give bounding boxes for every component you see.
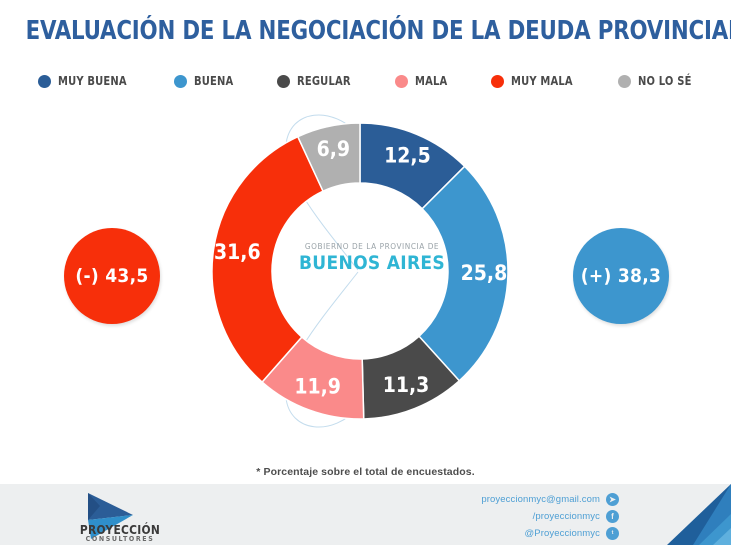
positive-total-bubble: (+) 38,3 <box>573 228 669 324</box>
legend-label: NO LO SÉ <box>638 74 692 88</box>
legend-item-muy-buena[interactable]: MUY BUENA <box>38 74 134 88</box>
legend-item-regular[interactable]: REGULAR <box>277 74 357 88</box>
negative-total-bubble: (-) 43,5 <box>64 228 160 324</box>
twitter-icon[interactable]: ᵗ <box>606 527 619 540</box>
footer-contacts: proyeccionmyc@gmail.com ➤ /proyeccionmyc… <box>481 493 619 540</box>
legend-dot-icon <box>174 75 187 88</box>
legend-dot-icon <box>395 75 408 88</box>
donut-chart-svg: 12,525,811,311,931,66,9 <box>182 96 542 446</box>
chart-footnote: * Porcentaje sobre el total de encuestad… <box>0 466 731 478</box>
chart-legend: MUY BUENA BUENA REGULAR MALA MUY MALA NO… <box>38 70 698 92</box>
legend-label: BUENA <box>194 74 233 88</box>
legend-label: MUY BUENA <box>58 74 127 88</box>
legend-label: MALA <box>415 74 447 88</box>
contact-row-facebook[interactable]: /proyeccionmyc f <box>533 510 619 523</box>
legend-dot-icon <box>277 75 290 88</box>
legend-label: REGULAR <box>297 74 351 88</box>
legend-item-buena[interactable]: BUENA <box>174 74 238 88</box>
page-footer: PROYECCIÓN CONSULTORES proyeccionmyc@gma… <box>0 484 731 545</box>
donut-slice-label: 12,5 <box>384 143 431 167</box>
legend-dot-icon <box>491 75 504 88</box>
facebook-icon[interactable]: f <box>606 510 619 523</box>
donut-slice-label: 11,3 <box>383 373 430 397</box>
legend-item-no-lo-se[interactable]: NO LO SÉ <box>618 74 698 88</box>
contact-row-email[interactable]: proyeccionmyc@gmail.com ➤ <box>481 493 619 506</box>
donut-chart: 12,525,811,311,931,66,9 GOBIERNO DE LA P… <box>182 96 542 446</box>
legend-item-mala[interactable]: MALA <box>395 74 451 88</box>
contact-facebook-text: /proyeccionmyc <box>533 511 600 522</box>
contact-email-text: proyeccionmyc@gmail.com <box>481 494 600 505</box>
legend-item-muy-mala[interactable]: MUY MALA <box>491 74 580 88</box>
send-icon[interactable]: ➤ <box>606 493 619 506</box>
donut-slice-label: 6,9 <box>317 137 350 161</box>
infographic-canvas: EVALUACIÓN DE LA NEGOCIACIÓN DE LA DEUDA… <box>0 0 731 545</box>
footer-corner-decoration <box>621 484 731 545</box>
legend-dot-icon <box>618 75 631 88</box>
brand-subtitle: CONSULTORES <box>55 535 185 543</box>
donut-slice-label: 11,9 <box>294 375 341 399</box>
contact-row-twitter[interactable]: @Proyeccionmyc ᵗ <box>525 527 619 540</box>
legend-label: MUY MALA <box>511 74 573 88</box>
donut-slice-label: 31,6 <box>214 240 261 264</box>
donut-slice-label: 25,8 <box>461 261 508 285</box>
page-title: EVALUACIÓN DE LA NEGOCIACIÓN DE LA DEUDA… <box>26 16 706 46</box>
legend-dot-icon <box>38 75 51 88</box>
contact-twitter-text: @Proyeccionmyc <box>525 528 600 539</box>
